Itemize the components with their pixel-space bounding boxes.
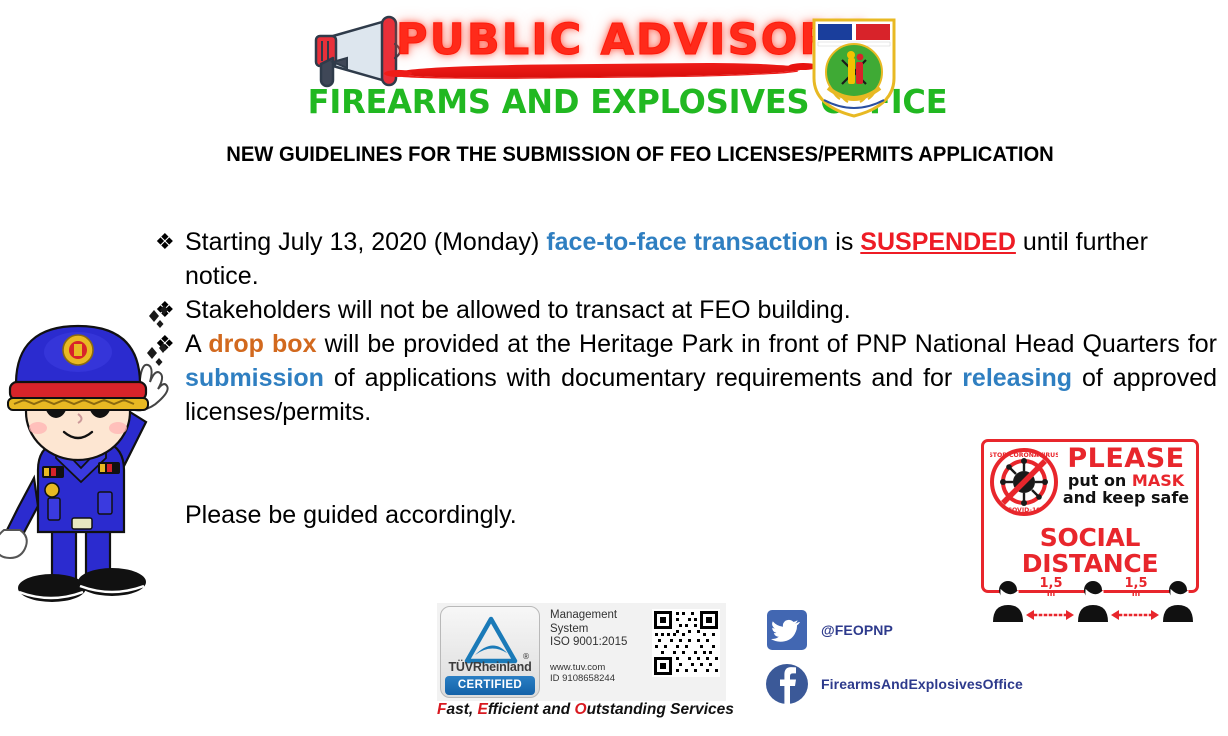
bullet-3-post: will be provided at the Heritage Park in… — [316, 330, 1179, 358]
feo-seal-icon — [810, 16, 898, 120]
tagline-ast: ast, — [446, 701, 477, 718]
distance-right-unit: m — [1119, 590, 1153, 598]
bullet-1-highlight-red: SUSPENDED — [860, 228, 1016, 256]
tagline-o: O — [575, 701, 587, 718]
tuv-url: www.tuv.com — [550, 662, 615, 673]
advisory-title: PUBLIC ADVISORY — [396, 14, 800, 66]
social-row-facebook[interactable]: FirearmsAndExplosivesOffice — [765, 663, 1065, 705]
distance-label-right: 1,5 m — [1119, 578, 1153, 598]
bullet-3-pre: A — [185, 330, 208, 358]
covid-social-distance-sign: STOP CORONAVIRUS COVID-19 PLEASE put on … — [981, 439, 1199, 593]
bullet-3-highlight-blue-1: submission — [185, 364, 324, 392]
tuv-url-block: www.tuv.com ID 9108658244 — [550, 662, 615, 684]
twitter-icon[interactable] — [765, 609, 809, 651]
bullet-3-line2-post: of — [1072, 364, 1103, 392]
bullet-item-1: ❖ Starting July 13, 2020 (Monday) face-t… — [155, 225, 1217, 293]
twitter-handle[interactable]: @FEOPNP — [821, 622, 893, 638]
tuv-certification-badge: ® TÜVRheinland CERTIFIED Management Syst… — [437, 603, 726, 701]
tuv-management-system-info: Management System ISO 9001:2015 www.tuv.… — [540, 603, 652, 701]
bullet-1-mid: is — [828, 228, 860, 256]
advisory-body: ❖ Starting July 13, 2020 (Monday) face-t… — [155, 225, 1217, 429]
covid-sign-top: STOP CORONAVIRUS COVID-19 PLEASE put on … — [990, 446, 1190, 524]
tagline-fficient: fficient and — [488, 701, 575, 718]
bullet-1-pre: Starting July 13, 2020 (Monday) — [185, 228, 546, 256]
bullet-1-text: Starting July 13, 2020 (Monday) face-to-… — [185, 225, 1217, 293]
bullet-3-highlight-blue-2: releasing — [962, 364, 1072, 392]
tuv-brand-text: TÜVRheinland — [441, 660, 539, 674]
tuv-ms-line-3: ISO 9001:2015 — [550, 636, 652, 650]
tagline-utstanding: utstanding Services — [587, 701, 734, 718]
bullet-item-3: ❖ A drop box will be provided at the Her… — [155, 327, 1217, 429]
covid-mask-line: put on MASK — [1062, 472, 1190, 489]
page-title: NEW GUIDELINES FOR THE SUBMISSION OF FEO… — [179, 142, 1100, 167]
stop-coronavirus-icon: STOP CORONAVIRUS COVID-19 — [990, 448, 1058, 516]
closing-line: Please be guided accordingly. — [185, 498, 517, 532]
facebook-icon[interactable] — [765, 663, 809, 705]
bullet-2-text: Stakeholders will not be allowed to tran… — [185, 293, 1217, 327]
badge-top-text: STOP CORONAVIRUS — [990, 452, 1058, 459]
bullet-1-post: until further — [1016, 228, 1148, 256]
bullet-3-line2-mid: of applications with documentary require… — [324, 364, 962, 392]
bullet-3-line2-pre: for — [1188, 330, 1217, 358]
badge-bottom-text: COVID-19 — [1007, 507, 1040, 514]
distance-left-unit: m — [1034, 590, 1068, 598]
covid-social-distance-text: SOCIAL DISTANCE — [990, 525, 1190, 577]
tuv-tagline: Fast, Efficient and Outstanding Services — [437, 701, 726, 719]
social-media-block: @FEOPNP FirearmsAndExplosivesOffice — [765, 609, 1065, 717]
bullet-1-line2: notice. — [185, 262, 259, 290]
tuv-rheinland-logo-icon: ® TÜVRheinland CERTIFIED — [440, 606, 540, 698]
bullet-3-text: A drop box will be provided at the Herit… — [185, 327, 1217, 429]
bullet-item-2: ❖ Stakeholders will not be allowed to tr… — [155, 293, 1217, 327]
tuv-ms-line-1: Management — [550, 609, 652, 623]
bullet-3-highlight-orange: drop box — [208, 330, 316, 358]
distance-label-left: 1,5 m — [1034, 578, 1068, 598]
tuv-id: ID 9108658244 — [550, 673, 615, 684]
covid-keep-safe-text: and keep safe — [1062, 489, 1190, 506]
bullet-diamond-icon: ❖ — [155, 225, 175, 259]
covid-please-text: PLEASE — [1062, 446, 1190, 472]
facebook-handle[interactable]: FirearmsAndExplosivesOffice — [821, 676, 1023, 692]
office-title: FIREARMS AND EXPLOSIVES OFFICE — [308, 84, 805, 120]
police-mascot-icon — [0, 292, 172, 610]
qr-code-icon — [652, 609, 720, 677]
tagline-e: E — [477, 701, 487, 718]
poster-header: PUBLIC ADVISORY FIREARMS AND EXPLOSIVES … — [0, 0, 1228, 128]
bullet-1-highlight-blue: face-to-face transaction — [546, 228, 828, 256]
tuv-ms-line-2: System — [550, 623, 652, 637]
tuv-certified-badge: CERTIFIED — [445, 676, 535, 695]
social-row-twitter[interactable]: @FEOPNP — [765, 609, 1065, 651]
covid-text-block: PLEASE put on MASK and keep safe — [1058, 446, 1190, 506]
